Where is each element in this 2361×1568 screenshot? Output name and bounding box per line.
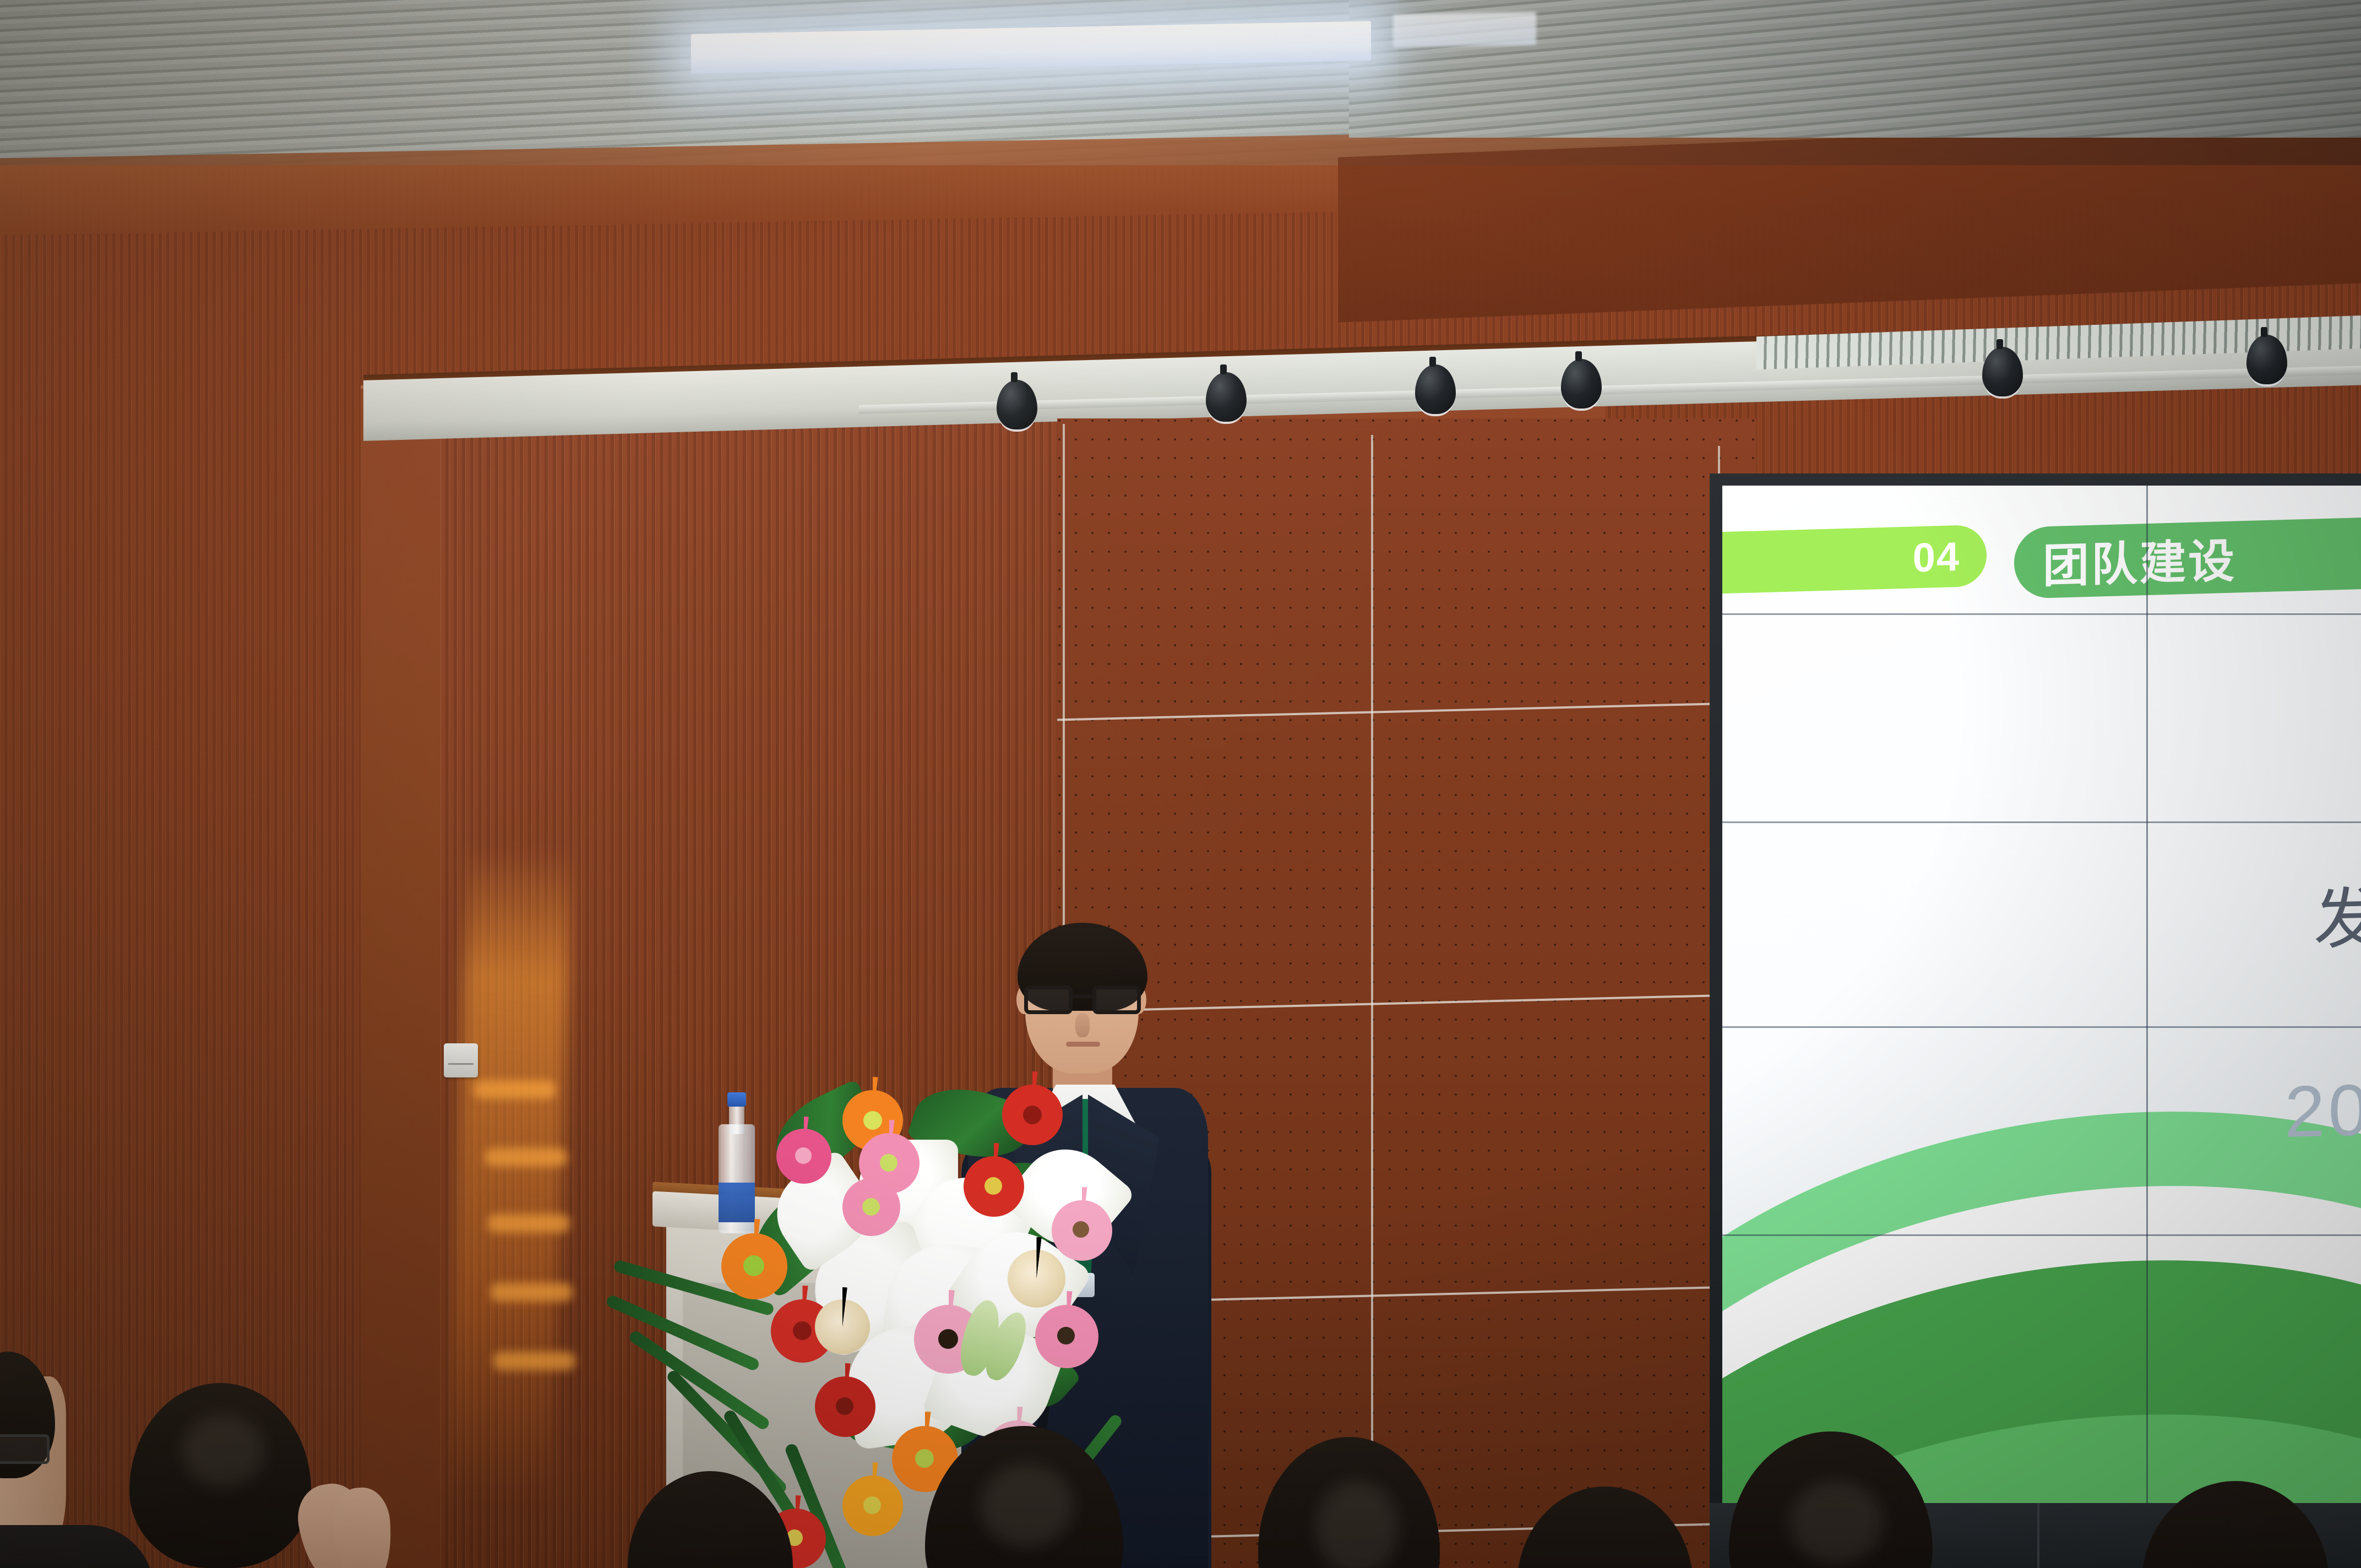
eyeglass-lens-right <box>1092 986 1141 1014</box>
led-base-seam <box>2037 1503 2039 1568</box>
cream-rose <box>815 1299 870 1354</box>
wall-grid-line <box>1371 435 1373 1568</box>
light-reflection-streak <box>474 1080 556 1099</box>
light-reflection-streak <box>493 1352 575 1370</box>
light-reflection-streak <box>490 1283 573 1302</box>
hair-highlight <box>1316 1481 1399 1568</box>
led-panel-seam <box>1722 1234 2361 1236</box>
led-panel-seam <box>1722 1026 2361 1028</box>
light-switch-plate[interactable] <box>444 1043 478 1077</box>
slide-section-number-badge: 04 <box>1722 525 1987 595</box>
hair-highlight <box>980 1464 1074 1547</box>
red-gerbera <box>1002 1085 1063 1145</box>
hair-highlight <box>1789 1481 1883 1564</box>
red-gerbera <box>964 1156 1024 1217</box>
eyeglass-lens-left <box>1024 986 1073 1014</box>
speaker-nose <box>1075 1013 1090 1037</box>
slide-body-partial-text: 发 <box>2314 865 2361 962</box>
led-presentation-screen[interactable]: 04 团队建设 发 20 <box>1722 486 2361 1509</box>
slide-section-title-pill: 团队建设 <box>2014 516 2361 599</box>
slide-partial-number: 20 <box>2284 1068 2361 1153</box>
presentation-photo-scene: 04 团队建设 发 20 <box>0 0 2361 1568</box>
ceiling-led-panel-light-secondary <box>1393 12 1536 48</box>
orange-gerbera <box>721 1233 787 1299</box>
light-reflection-streak <box>485 1148 567 1167</box>
pink-gerbera <box>842 1178 900 1236</box>
eyeglass-bridge <box>1073 994 1092 998</box>
pink-gerbera <box>776 1129 831 1184</box>
audience-eyeglasses-icon <box>0 1434 50 1464</box>
led-panel-seam <box>1722 821 2361 823</box>
led-panel-seam <box>1722 613 2361 615</box>
cream-rose <box>1008 1250 1065 1308</box>
hair-highlight <box>182 1415 264 1487</box>
eyeglasses-icon <box>1023 986 1142 1015</box>
led-panel-seam <box>2146 486 2148 1509</box>
orange-gerbera <box>842 1476 903 1536</box>
speaker-mouth <box>1066 1042 1100 1047</box>
red-gerbera <box>815 1376 875 1437</box>
light-reflection-streak <box>487 1214 570 1233</box>
